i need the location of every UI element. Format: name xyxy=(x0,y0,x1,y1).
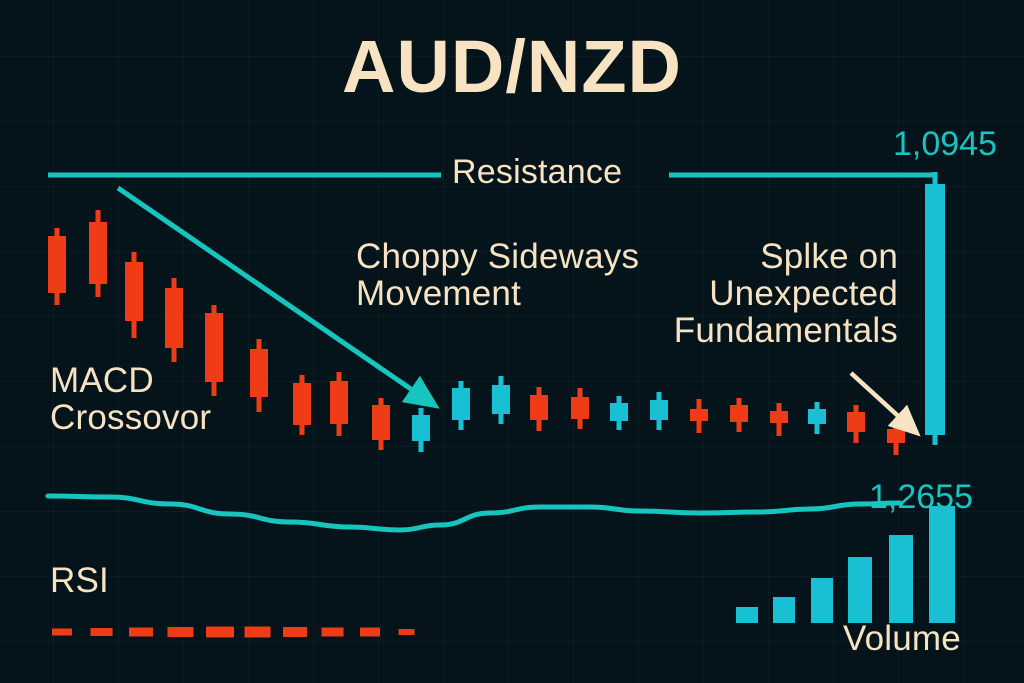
candle-body xyxy=(412,415,430,441)
candle-body xyxy=(250,349,268,397)
page-title: AUD/NZD xyxy=(0,28,1024,106)
candle-body xyxy=(808,409,826,424)
oscillator-path xyxy=(48,496,900,530)
candle-body xyxy=(330,381,348,424)
candle-body xyxy=(492,385,510,414)
resistance-label: Resistance xyxy=(452,154,622,190)
oscillator-line-series xyxy=(48,496,900,530)
candle-body xyxy=(89,222,107,284)
candle-body xyxy=(610,403,628,421)
volume-label: Volume xyxy=(843,620,961,657)
candle-body xyxy=(125,262,143,321)
volume-bar xyxy=(773,597,795,623)
rsi-dash-segment xyxy=(52,629,72,636)
candle-body xyxy=(925,184,945,435)
rsi-dash-segment xyxy=(91,628,113,636)
macd-crossover-label: MACD Crossovor xyxy=(50,362,211,436)
candle-body xyxy=(372,405,390,440)
volume-bar-series xyxy=(736,506,955,623)
chart-canvas: AUD/NZD Resistance Choppy Sideways Movem… xyxy=(0,0,1024,683)
rsi-dash-segment xyxy=(245,627,271,638)
candle-body xyxy=(690,409,708,421)
rsi-dashed-line xyxy=(52,627,415,638)
volume-bar xyxy=(848,557,872,623)
price-low-label: 1,2655 xyxy=(869,478,973,517)
rsi-dash-segment xyxy=(399,629,415,635)
volume-bar xyxy=(929,506,955,623)
rsi-dash-segment xyxy=(168,627,194,637)
rsi-dash-segment xyxy=(129,628,153,637)
candle-body xyxy=(770,411,788,423)
price-high-label: 1,0945 xyxy=(893,125,997,164)
rsi-dash-segment xyxy=(360,628,380,637)
rsi-label: RSI xyxy=(50,562,109,599)
volume-bar xyxy=(889,535,913,623)
candle-body xyxy=(293,383,311,425)
rsi-dash-segment xyxy=(206,627,234,638)
candle-body xyxy=(571,397,589,419)
rsi-dash-segment xyxy=(322,628,344,637)
volume-bar xyxy=(736,607,758,623)
volume-bar xyxy=(811,578,833,623)
candle-body xyxy=(530,395,548,420)
candle-body xyxy=(452,388,470,420)
candle-body xyxy=(48,236,66,293)
candle-body xyxy=(730,405,748,422)
rsi-dash-segment xyxy=(283,627,307,637)
choppy-sideways-annotation: Choppy Sideways Movement xyxy=(356,238,639,312)
spike-fundamentals-annotation: Splke on Unexpected Fundamentals xyxy=(610,238,898,349)
candle-body xyxy=(887,429,905,443)
candle-body xyxy=(847,412,865,432)
candle-body xyxy=(165,288,183,348)
candle-body xyxy=(650,400,668,420)
